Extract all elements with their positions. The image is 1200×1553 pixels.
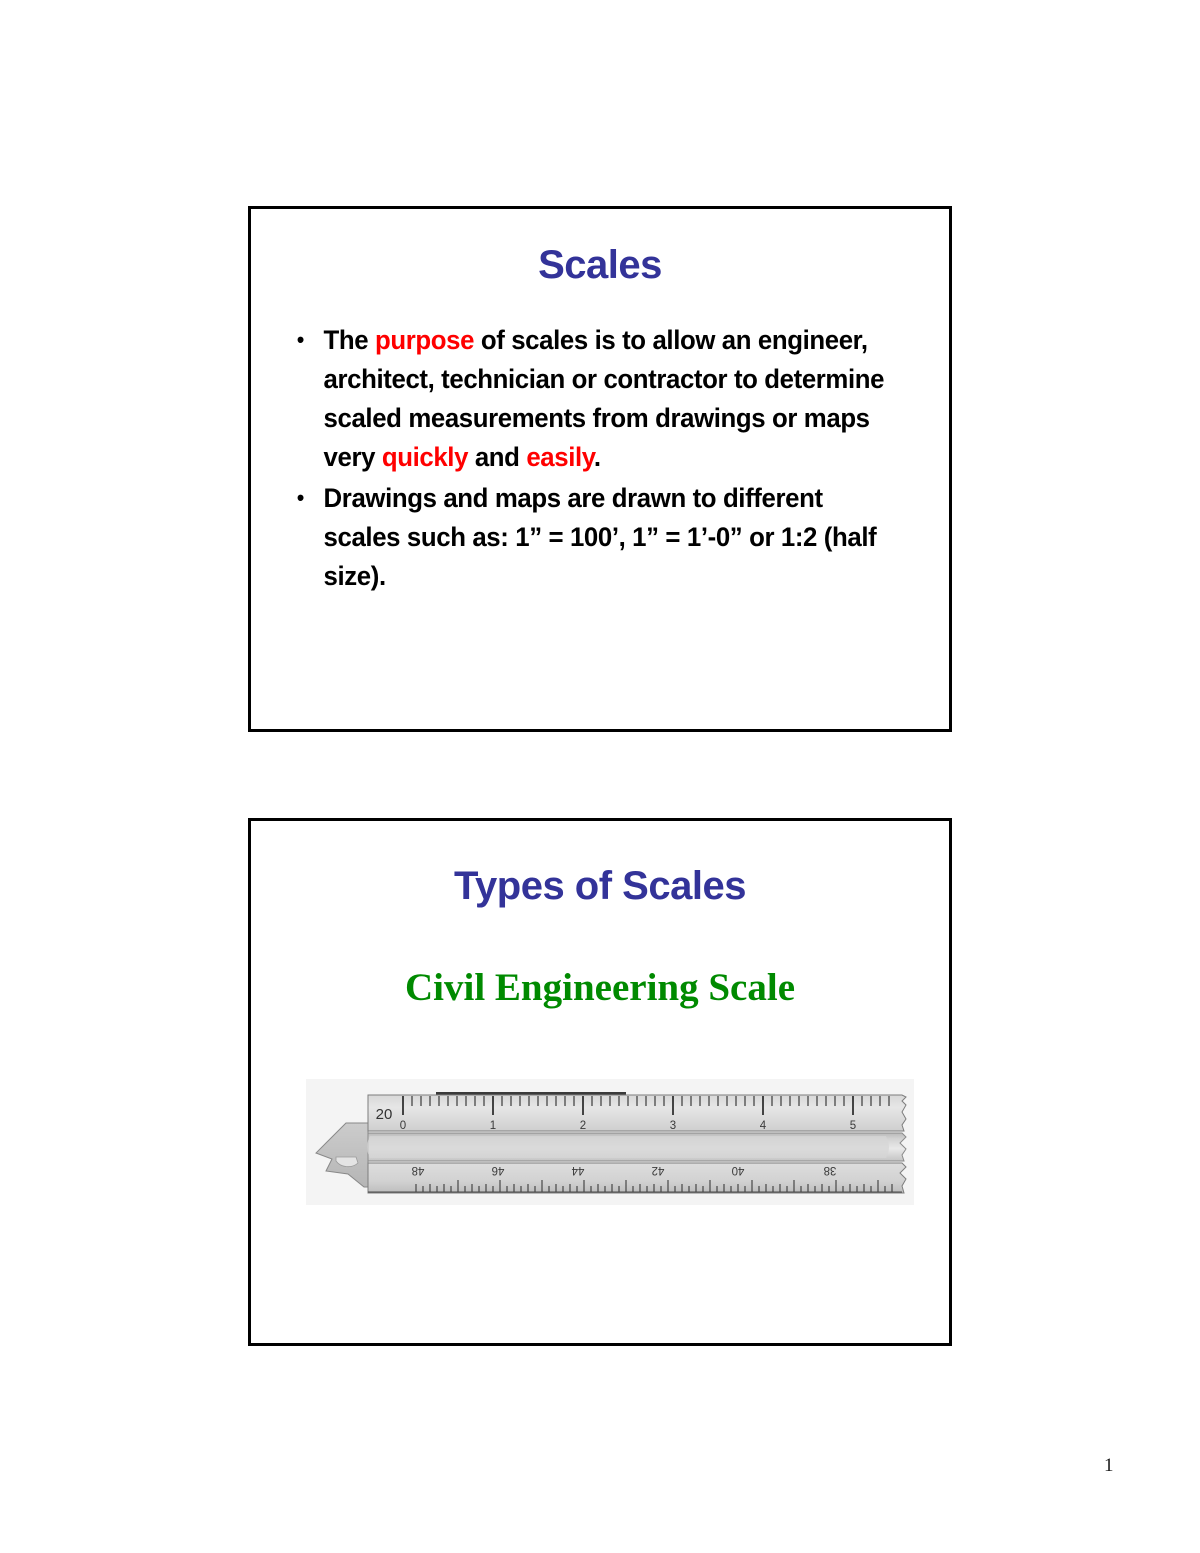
svg-text:42: 42 (652, 1164, 665, 1176)
page-title: Types of Scales (251, 821, 949, 906)
svg-text:46: 46 (492, 1164, 505, 1176)
svg-text:48: 48 (412, 1164, 425, 1176)
list-item: The purpose of scales is to allow an eng… (293, 321, 885, 477)
page-title: Scales (251, 209, 949, 285)
civil-engineering-scale-photo: 20 0 1 2 3 4 5 48 46 44 42 40 38 (306, 1079, 914, 1205)
bullet-text-highlight: quickly (382, 442, 468, 472)
svg-text:0: 0 (400, 1120, 406, 1132)
bullet-text-highlight: easily (526, 442, 593, 472)
list-item: Drawings and maps are drawn to different… (293, 479, 885, 596)
svg-text:1: 1 (490, 1120, 496, 1132)
slide-types-of-scales: Types of Scales Civil Engineering Scale (248, 818, 952, 1346)
svg-text:3: 3 (670, 1120, 676, 1132)
svg-text:2: 2 (580, 1120, 586, 1132)
subtitle: Civil Engineering Scale (251, 906, 949, 1007)
bullet-text-highlight: purpose (375, 325, 474, 355)
svg-text:44: 44 (571, 1164, 584, 1176)
bullet-text-segment: and (468, 442, 526, 472)
slide-scales: Scales The purpose of scales is to allow… (248, 206, 952, 732)
svg-text:38: 38 (824, 1164, 837, 1176)
svg-text:40: 40 (732, 1164, 745, 1176)
svg-text:5: 5 (850, 1120, 856, 1132)
bullet-text-segment: The (324, 325, 375, 355)
bullet-list: The purpose of scales is to allow an eng… (251, 321, 949, 596)
page-number: 1 (1104, 1455, 1114, 1477)
bullet-text-segment: . (594, 442, 601, 472)
svg-text:4: 4 (760, 1120, 767, 1132)
bullet-text-segment: Drawings and maps are drawn to different… (324, 483, 877, 591)
scale-designation-label: 20 (376, 1106, 393, 1123)
ruler-illustration: 20 0 1 2 3 4 5 48 46 44 42 40 38 (306, 1079, 914, 1205)
